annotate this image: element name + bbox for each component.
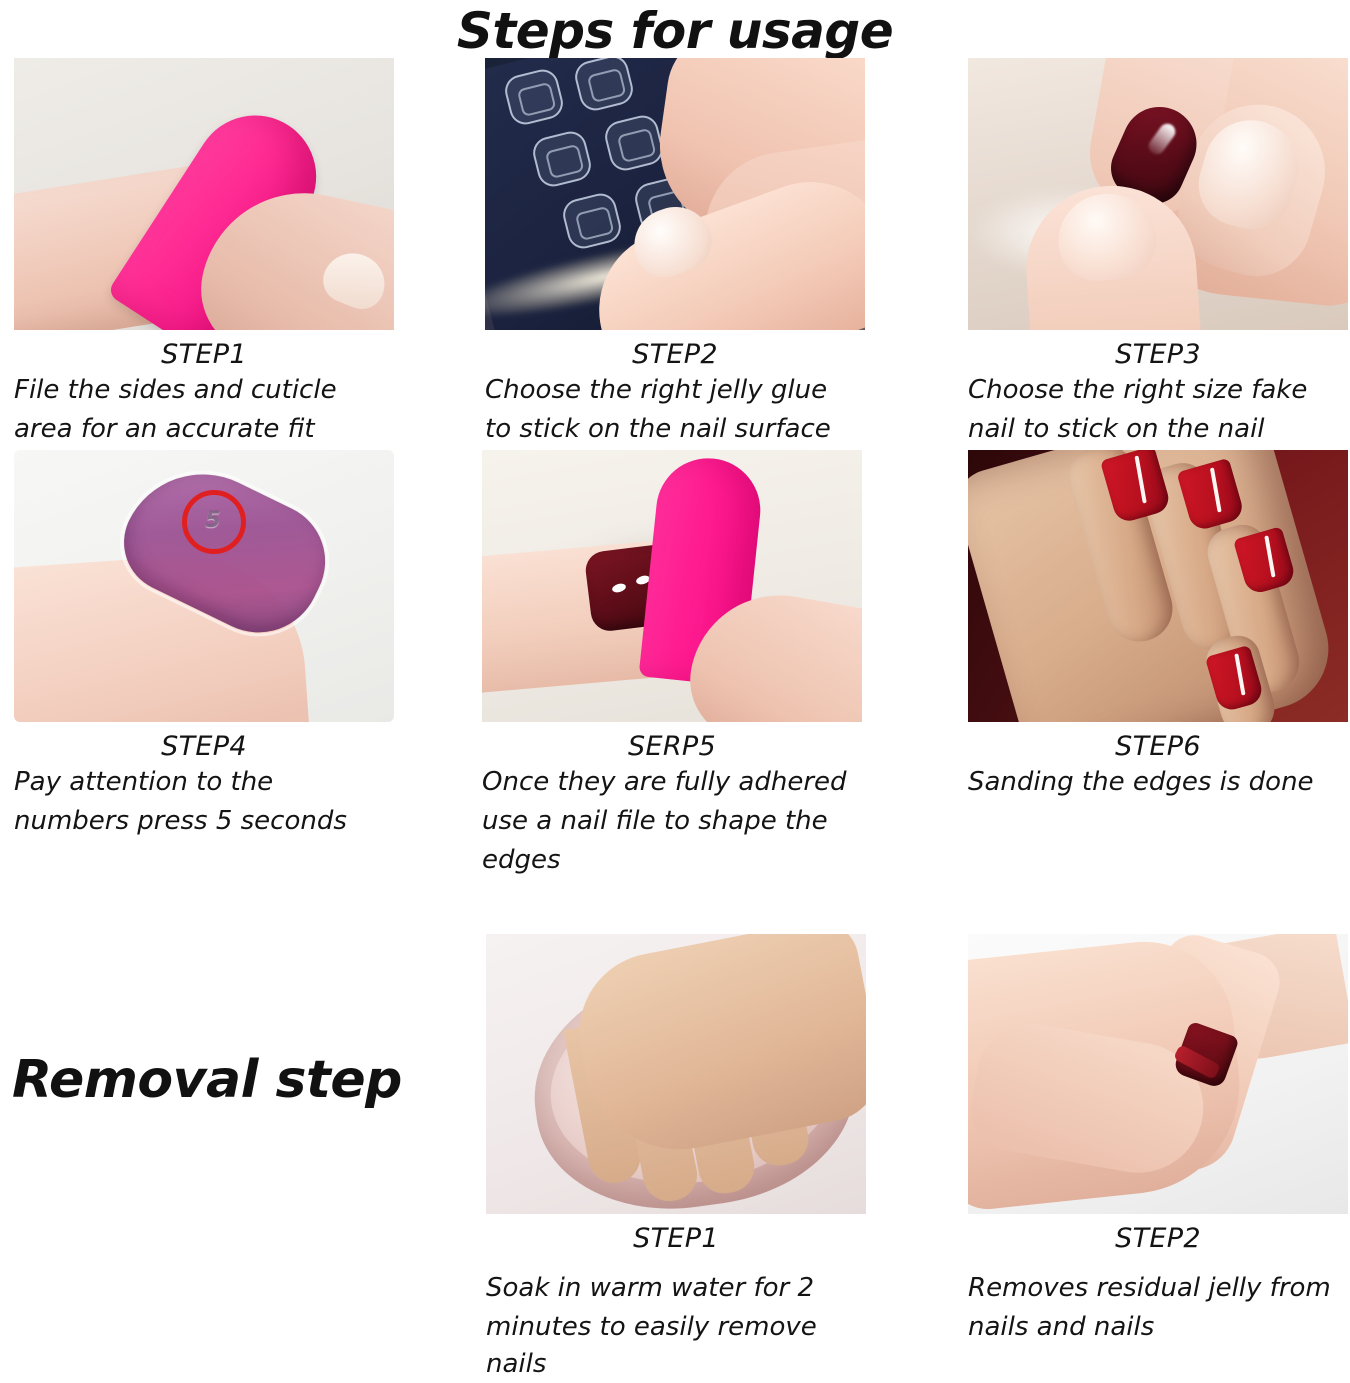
step-description-line1: Once they are fully adhered <box>482 764 862 801</box>
step4-photo: 5 <box>14 450 394 722</box>
step-label: STEP3 <box>968 339 1348 370</box>
step-label: SERP5 <box>482 731 862 762</box>
step3-photo <box>968 58 1348 330</box>
step-description-line1: Removes residual jelly from <box>968 1270 1348 1307</box>
step6-photo <box>968 450 1348 722</box>
usage-step-3: STEP3 Choose the right size fake nail to… <box>968 58 1348 448</box>
step-label: STEP2 <box>968 1223 1348 1254</box>
step-label: STEP1 <box>486 1223 866 1254</box>
step-description-line2: minutes to easily remove nails <box>486 1309 866 1383</box>
step-description-line1: Choose the right size fake <box>968 372 1348 409</box>
removal-step-1: STEP1 Soak in warm water for 2 minutes t… <box>486 934 866 1383</box>
page-title-steps-for-usage: Steps for usage <box>0 2 1350 60</box>
step-description-line2: nails and nails <box>968 1309 1348 1346</box>
step2-photo <box>485 58 865 330</box>
usage-step-1: STEP1 File the sides and cuticle area fo… <box>14 58 394 448</box>
step-label: STEP6 <box>968 731 1348 762</box>
usage-step-5: SERP5 Once they are fully adhered use a … <box>482 450 862 879</box>
step-label: STEP1 <box>14 339 394 370</box>
step-description-line2: use a nail file to shape the <box>482 803 862 840</box>
step-description-line1: File the sides and cuticle <box>14 372 394 409</box>
step-description-line1: Pay attention to the <box>14 764 394 801</box>
step-label: STEP2 <box>485 339 865 370</box>
step-description-line2: area for an accurate fit <box>14 411 394 448</box>
usage-step-4: 5 STEP4 Pay attention to the numbers pre… <box>14 450 394 840</box>
step-description-line1: Sanding the edges is done <box>968 764 1348 801</box>
step5-photo <box>482 450 862 722</box>
step-label: STEP4 <box>14 731 394 762</box>
step-description-line2: nail to stick on the nail <box>968 411 1348 448</box>
removal-step1-photo <box>486 934 866 1214</box>
step-description-line2: numbers press 5 seconds <box>14 803 394 840</box>
step-description-line1: Soak in warm water for 2 <box>486 1270 866 1307</box>
section-title-removal-step: Removal step <box>12 1050 402 1110</box>
red-circle-annotation <box>182 490 246 554</box>
removal-step-2: STEP2 Removes residual jelly from nails … <box>968 934 1348 1346</box>
usage-step-2: STEP2 Choose the right jelly glue to sti… <box>485 58 865 448</box>
usage-step-6: STEP6 Sanding the edges is done <box>968 450 1348 801</box>
infographic-page: Steps for usage STEP1 File the sides and… <box>0 0 1350 1356</box>
step1-photo <box>14 58 394 330</box>
step-description-line1: Choose the right jelly glue <box>485 372 865 409</box>
removal-step2-photo <box>968 934 1348 1214</box>
step-description-line2: to stick on the nail surface <box>485 411 865 448</box>
step-description-line3: edges <box>482 842 862 879</box>
